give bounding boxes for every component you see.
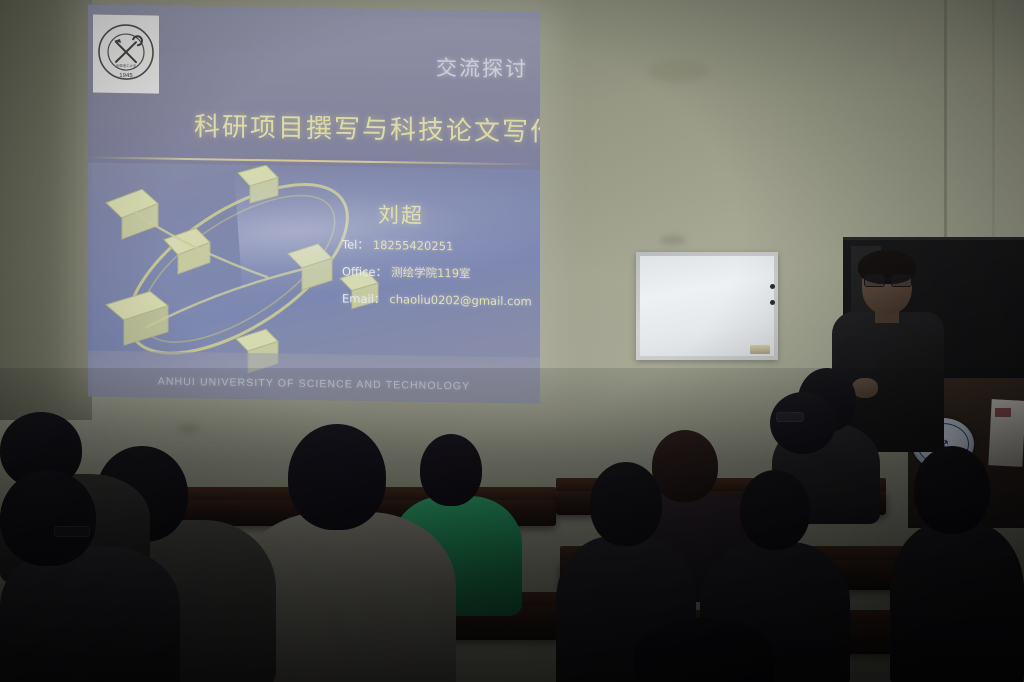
person-head [590,462,662,546]
slide-title: 科研项目撰写与科技论文写作 [194,106,540,149]
contact-value: 18255420251 [373,238,453,253]
contact-label: Office： [342,264,387,279]
contact-label: Tel： [342,237,369,251]
person-head [914,446,990,534]
seal-year: 1945 [119,73,133,79]
audience-member-far-right [890,446,1024,682]
projection-screen-area: 1945 安徽理工大学 交流探讨 科研项目撰写与科技论文写作 刘超 Tel：18… [88,4,540,403]
slide-contact-email: Email：chaoliu0202@gmail.com [342,290,532,309]
university-seal-logo: 1945 安徽理工大学 [93,15,159,94]
slide: 1945 安徽理工大学 交流探讨 科研项目撰写与科技论文写作 刘超 Tel：18… [88,4,540,403]
person-head [770,392,836,454]
person-head [634,618,774,682]
whiteboard-magnet [770,300,775,305]
slide-contact-tel: Tel：18255420251 [342,236,453,254]
person-body [0,546,180,682]
whiteboard-eraser [750,345,770,354]
slide-presenter-name: 刘超 [378,199,424,230]
person-head [740,470,810,550]
person-head [288,424,386,530]
whiteboard [636,252,778,360]
contact-value: 测绘学院119室 [391,265,470,280]
person-head [0,470,96,566]
whiteboard-surface [640,256,774,356]
contact-value: chaoliu0202@gmail.com [389,292,531,308]
audience-member-with-glasses [770,392,840,458]
crossed-hammer-pick-seal-icon: 1945 安徽理工大学 [97,21,155,88]
slide-topic-label: 交流探讨 [436,52,528,83]
lecture-hall-photo: 1945 安徽理工大学 交流探讨 科研项目撰写与科技论文写作 刘超 Tel：18… [0,0,1024,682]
person-body [890,522,1024,682]
contact-label: Email： [342,291,385,306]
slide-contact-office: Office：测绘学院119室 [342,263,471,281]
audience-glasses-icon [776,412,804,422]
presenter-glasses-icon [864,274,910,285]
wall-left-shadow [0,0,92,420]
paper-red-mark [995,408,1011,417]
whiteboard-magnet [770,284,775,289]
svg-text:安徽理工大学: 安徽理工大学 [116,63,137,68]
audience-glasses-icon [54,526,90,537]
audience-member-bottom-center [604,618,804,682]
wall-seam [992,0,995,250]
audience-member-front-left [0,470,180,682]
